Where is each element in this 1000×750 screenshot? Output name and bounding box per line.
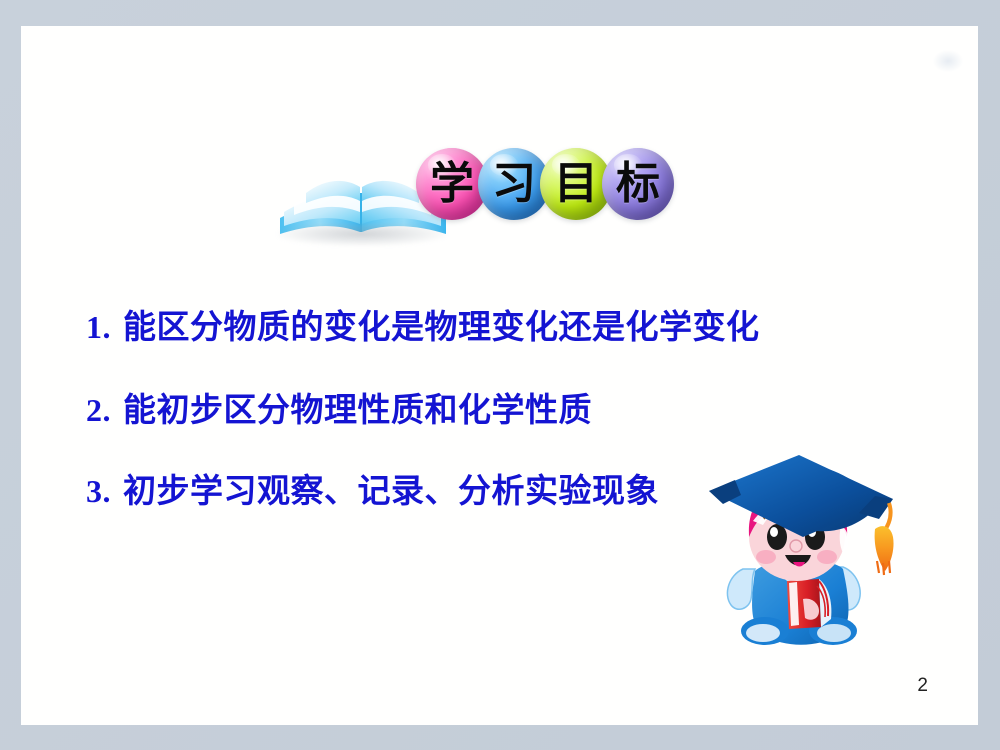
mascot-left-cheek: [756, 550, 776, 564]
title-char-3: 标: [616, 162, 660, 206]
goal-number-2: 2.: [86, 393, 111, 429]
goal-text-1: 能区分物质的变化是物理变化还是化学变化: [123, 310, 760, 347]
graduate-baby-svg: [693, 449, 908, 659]
slide-frame: 学 习 目 标 1. 能区分物质的变化是物理变化还是化学变化 2. 能初步区分物…: [0, 0, 1000, 750]
title-sphere-biao: 标: [602, 148, 674, 220]
book-shadow: [278, 224, 446, 246]
slide-canvas: 学 习 目 标 1. 能区分物质的变化是物理变化还是化学变化 2. 能初步区分物…: [21, 26, 978, 725]
goal-number-1: 1.: [86, 310, 111, 346]
watermark-artifact: [933, 50, 963, 72]
title-banner: 学 习 目 标: [276, 148, 696, 258]
goal-item-1: 1. 能区分物质的变化是物理变化还是化学变化: [86, 310, 760, 347]
goal-text-2: 能初步区分物理性质和化学性质: [123, 393, 592, 430]
goal-item-3: 3. 初步学习观察、记录、分析实验现象: [86, 474, 659, 511]
graduate-baby-mascot: [693, 449, 908, 659]
goal-item-2: 2. 能初步区分物理性质和化学性质: [86, 393, 592, 430]
goal-text-3: 初步学习观察、记录、分析实验现象: [123, 474, 659, 511]
mascot-left-eye: [767, 524, 787, 550]
mascot-right-cheek: [817, 550, 837, 564]
title-char-2: 目: [554, 162, 598, 206]
title-char-0: 学: [430, 162, 474, 206]
goal-number-3: 3.: [86, 474, 111, 510]
page-number: 2: [917, 675, 928, 697]
mascot-left-arm: [727, 569, 755, 609]
title-char-1: 习: [492, 162, 536, 206]
